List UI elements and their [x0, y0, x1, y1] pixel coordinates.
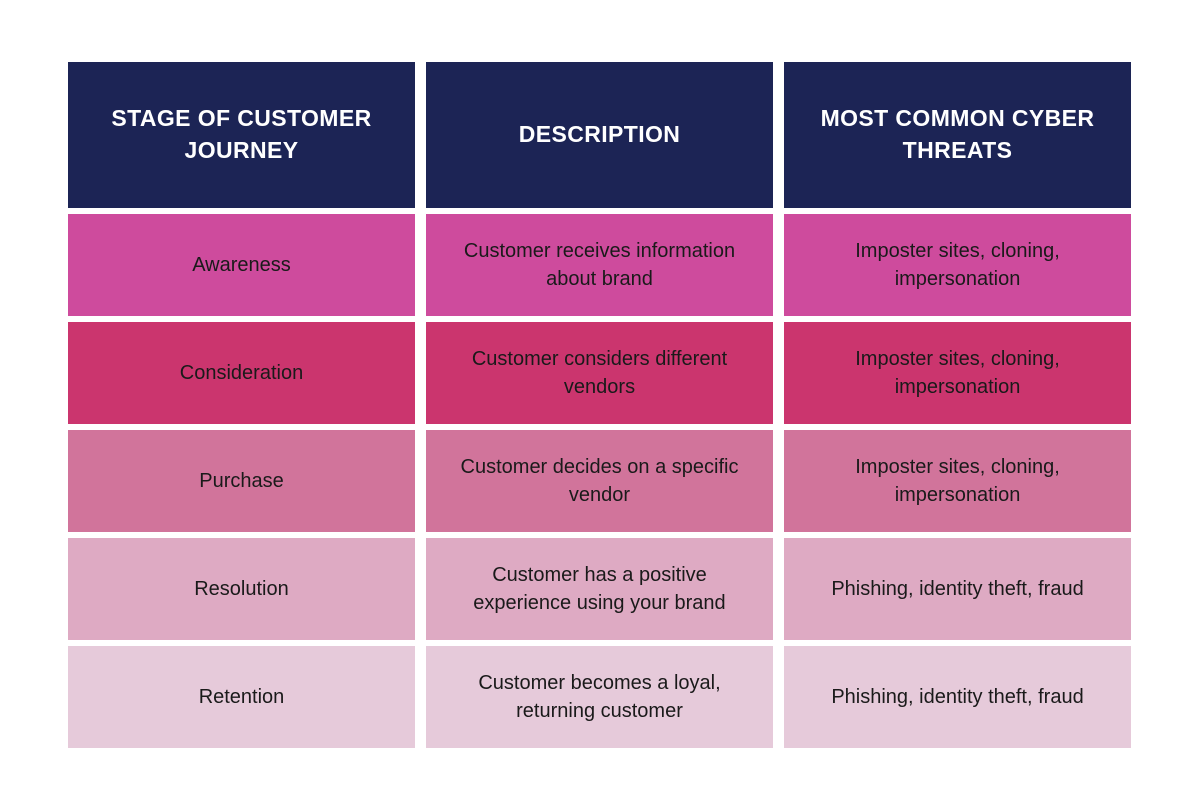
- column-header-threats: MOST COMMON CYBER THREATS: [784, 62, 1131, 208]
- table-row: Awareness: [68, 214, 415, 316]
- column-header-stage: STAGE OF CUSTOMER JOURNEY: [68, 62, 415, 208]
- table-row: Imposter sites, cloning, impersonation: [784, 430, 1131, 532]
- table-row: Imposter sites, cloning, impersonation: [784, 322, 1131, 424]
- table-row: Phishing, identity theft, fraud: [784, 538, 1131, 640]
- column-header-description: DESCRIPTION: [426, 62, 773, 208]
- table-row: Retention: [68, 646, 415, 748]
- cell-stage: Purchase: [199, 467, 284, 495]
- column-header-stage-label: STAGE OF CUSTOMER JOURNEY: [92, 103, 392, 166]
- cell-stage: Consideration: [180, 359, 303, 387]
- table-row: Customer receives information about bran…: [426, 214, 773, 316]
- table-row: Purchase: [68, 430, 415, 532]
- cell-threats: Imposter sites, cloning, impersonation: [806, 345, 1109, 402]
- table-row: Resolution: [68, 538, 415, 640]
- cell-stage: Retention: [199, 683, 285, 711]
- table-row: Phishing, identity theft, fraud: [784, 646, 1131, 748]
- table-row: Customer considers different vendors: [426, 322, 773, 424]
- table-row: Imposter sites, cloning, impersonation: [784, 214, 1131, 316]
- table-grid: STAGE OF CUSTOMER JOURNEY DESCRIPTION MO…: [68, 62, 1131, 748]
- column-header-description-label: DESCRIPTION: [519, 119, 681, 151]
- table-row: Customer has a positive experience using…: [426, 538, 773, 640]
- cell-threats: Phishing, identity theft, fraud: [831, 575, 1083, 603]
- table-row: Customer becomes a loyal, returning cust…: [426, 646, 773, 748]
- cell-description: Customer becomes a loyal, returning cust…: [448, 669, 751, 726]
- customer-journey-threat-table: STAGE OF CUSTOMER JOURNEY DESCRIPTION MO…: [68, 62, 1131, 746]
- column-header-threats-label: MOST COMMON CYBER THREATS: [808, 103, 1108, 166]
- cell-threats: Phishing, identity theft, fraud: [831, 683, 1083, 711]
- cell-threats: Imposter sites, cloning, impersonation: [806, 453, 1109, 510]
- cell-description: Customer decides on a specific vendor: [448, 453, 751, 510]
- table-row: Customer decides on a specific vendor: [426, 430, 773, 532]
- cell-stage: Resolution: [194, 575, 289, 603]
- table-row: Consideration: [68, 322, 415, 424]
- cell-description: Customer receives information about bran…: [448, 237, 751, 294]
- cell-threats: Imposter sites, cloning, impersonation: [806, 237, 1109, 294]
- cell-description: Customer considers different vendors: [448, 345, 751, 402]
- cell-description: Customer has a positive experience using…: [448, 561, 751, 618]
- cell-stage: Awareness: [192, 251, 291, 279]
